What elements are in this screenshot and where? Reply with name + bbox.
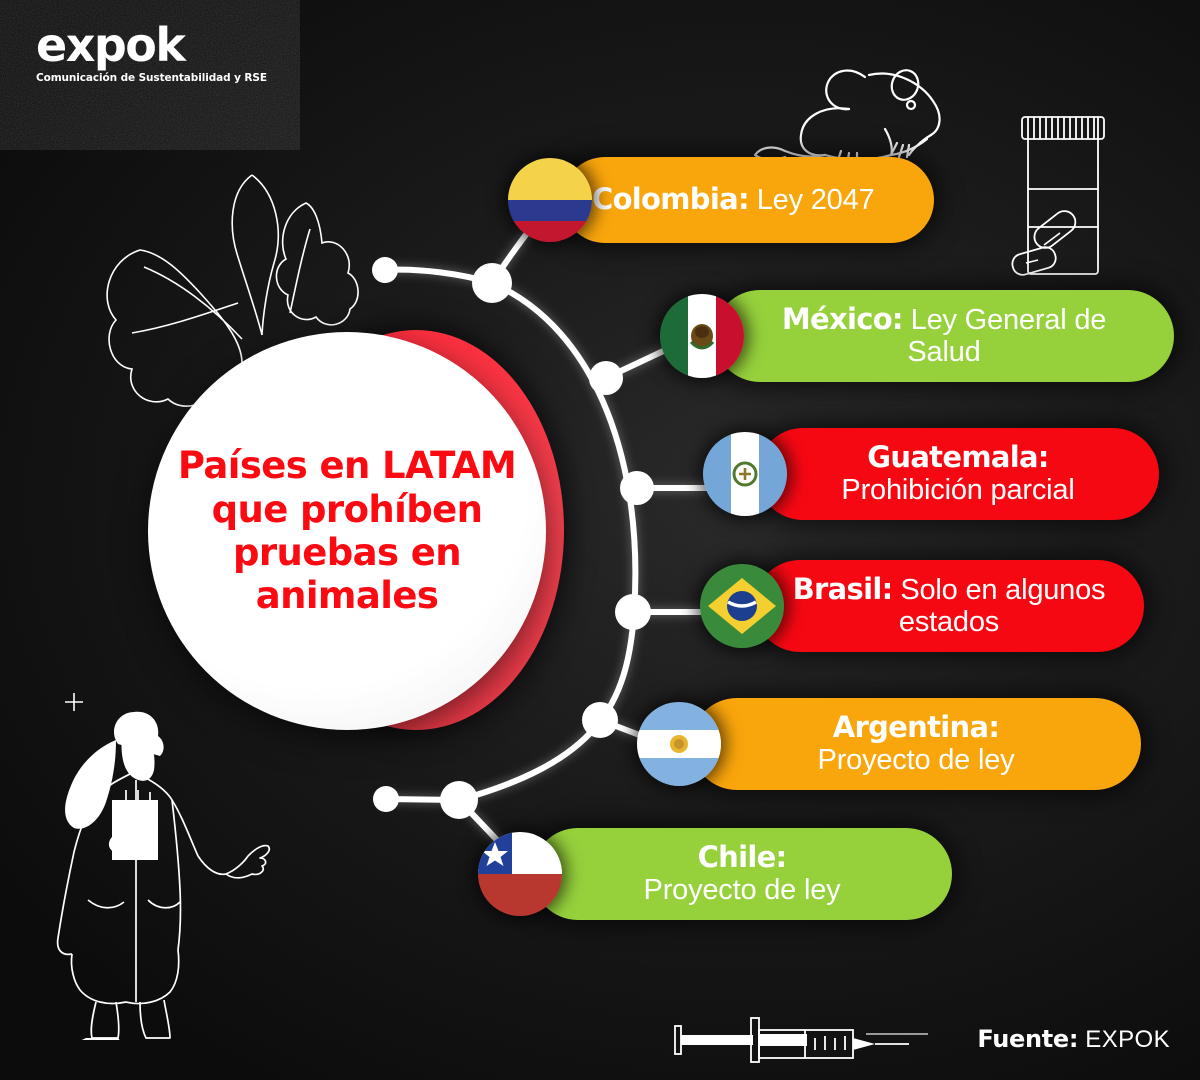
source-value: EXPOK	[1085, 1026, 1170, 1053]
logo-tagline: Comunicación de Sustentabilidad y RSE	[36, 72, 267, 84]
pill-bottle-line-art-icon	[1000, 105, 1175, 295]
scientist-line-art-icon	[30, 700, 280, 1040]
hub-circle: Países en LATAM que prohíben pruebas en …	[148, 332, 546, 730]
country-label-argentina: Argentina:	[833, 710, 999, 744]
flag-mexico-icon	[660, 294, 744, 378]
pill-brasil[interactable]: Brasil: Solo en algunos estados	[754, 560, 1144, 652]
pill-text-chile: Chile: Proyecto de ley	[562, 841, 922, 907]
flag-chile-icon	[478, 832, 562, 916]
pill-argentina[interactable]: Argentina: Proyecto de ley	[691, 698, 1141, 790]
source-label: Fuente:	[977, 1025, 1078, 1053]
list-item-brasil[interactable]: Brasil: Solo en algunos estados	[700, 560, 1144, 652]
status-label-mexico: Ley General de Salud	[907, 304, 1106, 368]
list-item-argentina[interactable]: Argentina: Proyecto de ley	[637, 698, 1141, 790]
list-item-guatemala[interactable]: Guatemala: Prohibición parcial	[703, 428, 1159, 520]
pill-colombia[interactable]: Colombia: Ley 2047	[562, 157, 934, 243]
status-label-chile: Proyecto de ley	[644, 874, 841, 906]
status-label-guatemala: Prohibición parcial	[841, 474, 1074, 506]
flag-guatemala-icon	[703, 432, 787, 516]
pill-guatemala[interactable]: Guatemala: Prohibición parcial	[757, 428, 1159, 520]
infographic-canvas: expok Comunicación de Sustentabilidad y …	[0, 0, 1200, 1080]
flag-colombia-icon	[508, 158, 592, 242]
pill-mexico[interactable]: México: Ley General de Salud	[714, 290, 1174, 382]
pill-text-argentina: Argentina: Proyecto de ley	[721, 711, 1111, 777]
list-item-mexico[interactable]: México: Ley General de Salud	[660, 290, 1174, 382]
country-label-guatemala: Guatemala:	[867, 440, 1048, 474]
country-label-brasil: Brasil:	[793, 572, 893, 606]
status-label-brasil: Solo en algunos estados	[899, 574, 1105, 638]
source-divider	[866, 1033, 928, 1035]
source-credit: Fuente: EXPOK	[977, 1025, 1170, 1054]
logo-wordmark: expok	[36, 22, 267, 68]
syringe-line-art-icon	[665, 1010, 915, 1070]
page-title: Países en LATAM que prohíben pruebas en …	[148, 444, 546, 617]
brand-logo: expok Comunicación de Sustentabilidad y …	[36, 22, 267, 84]
flag-brasil-icon	[700, 564, 784, 648]
sparkle-icon	[62, 690, 86, 714]
pill-text-brasil: Brasil: Solo en algunos estados	[784, 573, 1114, 639]
pill-text-mexico: México: Ley General de Salud	[744, 303, 1144, 369]
list-item-colombia[interactable]: Colombia: Ley 2047	[508, 157, 934, 243]
list-item-chile[interactable]: Chile: Proyecto de ley	[478, 828, 952, 920]
status-label-colombia: Ley 2047	[757, 184, 875, 216]
status-label-argentina: Proyecto de ley	[818, 744, 1015, 776]
country-label-colombia: Colombia:	[592, 182, 749, 216]
pill-text-colombia: Colombia: Ley 2047	[592, 183, 904, 216]
country-label-mexico: México:	[782, 302, 903, 336]
pill-text-guatemala: Guatemala: Prohibición parcial	[787, 441, 1129, 507]
pill-chile[interactable]: Chile: Proyecto de ley	[532, 828, 952, 920]
country-label-chile: Chile:	[698, 840, 787, 874]
flag-argentina-icon	[637, 702, 721, 786]
